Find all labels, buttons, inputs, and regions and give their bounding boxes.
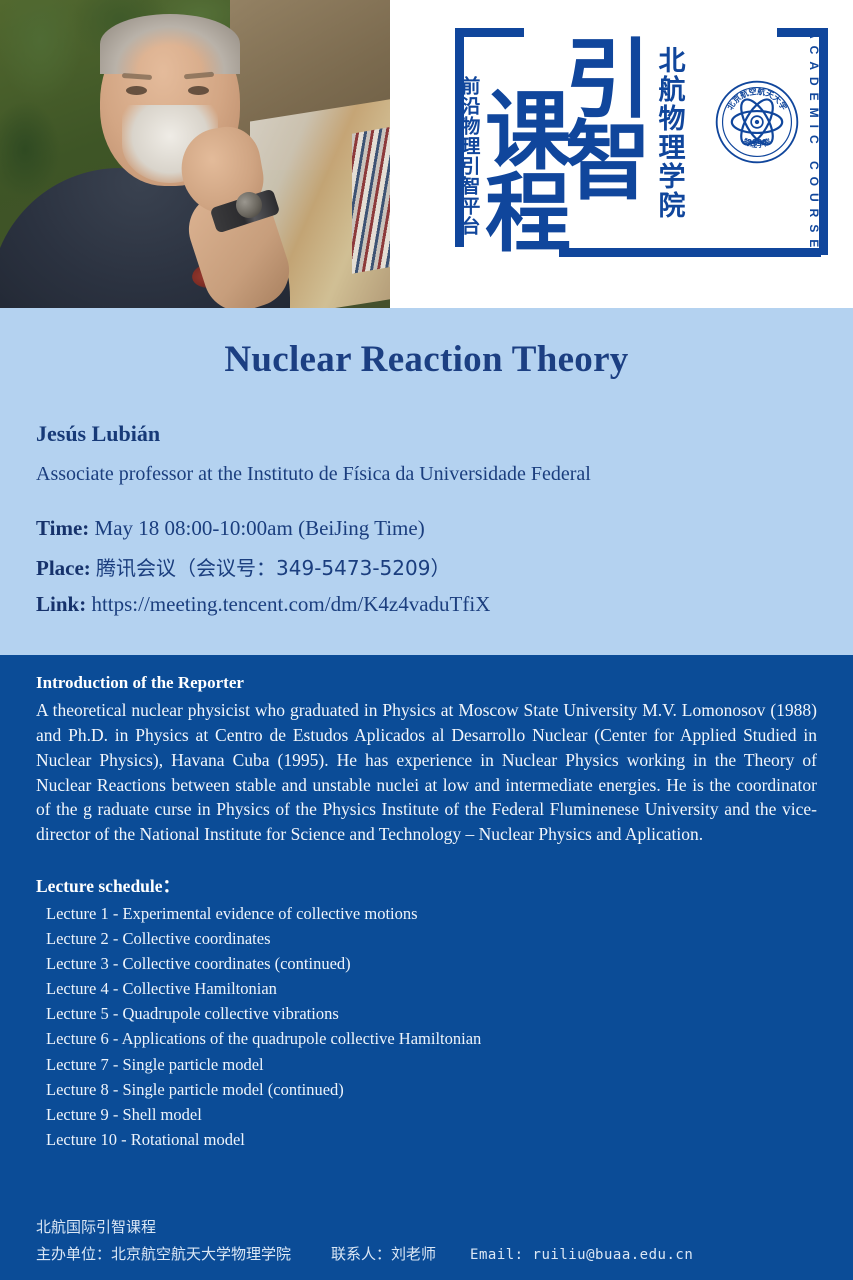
meeting-link[interactable]: https://meeting.tencent.com/dm/K4z4vaduT… (91, 592, 490, 616)
list-item: Lecture 2 - Collective coordinates (46, 926, 853, 951)
meta-value-time: May 18 08:00-10:00am (BeiJing Time) (95, 516, 425, 540)
photo-eye-left (126, 86, 147, 95)
speaker-affiliation: Associate professor at the Instituto de … (36, 463, 853, 486)
list-item: Lecture 3 - Collective coordinates (cont… (46, 951, 853, 976)
speaker-photo (0, 0, 390, 308)
list-item: Lecture 1 - Experimental evidence of col… (46, 901, 853, 926)
program-logo: 前沿物理引智平台 课 程 引 智 北航物理学院 北京航空航天大学 (395, 0, 853, 308)
logo-bracket-bottom (559, 240, 821, 257)
logo-char-cheng: 程 (485, 178, 571, 252)
meta-label-place: Place: (36, 556, 91, 580)
lecture-list: Lecture 1 - Experimental evidence of col… (46, 901, 853, 1152)
svg-text:北京航空航天大学: 北京航空航天大学 (725, 86, 790, 112)
intro-heading: Introduction of the Reporter (0, 655, 853, 693)
logo-char-ke: 课 (485, 96, 571, 170)
list-item: Lecture 6 - Applications of the quadrupo… (46, 1026, 853, 1051)
svg-text:2008: 2008 (747, 137, 767, 146)
buaa-seal-icon: 北京航空航天大学 物理学院 2008 (715, 80, 799, 164)
meta-row-place: Place: 腾讯会议（会议号：349-5473-5209） (36, 552, 853, 581)
footer: 北航国际引智课程 主办单位：北京航空航天大学物理学院 联系人：刘老师 Email… (0, 1216, 853, 1264)
header-band: 前沿物理引智平台 课 程 引 智 北航物理学院 北京航空航天大学 (0, 0, 853, 308)
logo-school-vertical: 北航物理学院 (655, 46, 683, 220)
meta-row-link: Link: https://meeting.tencent.com/dm/K4z… (36, 592, 853, 617)
meta-row-time: Time: May 18 08:00-10:00am (BeiJing Time… (36, 516, 853, 541)
meta-label-link: Link: (36, 592, 86, 616)
meta-value-place: 腾讯会议（会议号：349-5473-5209） (96, 556, 450, 580)
list-item: Lecture 10 - Rotational model (46, 1127, 853, 1152)
list-item: Lecture 9 - Shell model (46, 1102, 853, 1127)
footer-organizer: 主办单位：北京航空航天大学物理学院 (36, 1243, 291, 1264)
photo-hair (100, 14, 240, 74)
photo-chair-stripe (352, 126, 390, 273)
footer-program: 北航国际引智课程 (36, 1216, 853, 1237)
schedule-heading: Lecture schedule： (0, 847, 853, 901)
page-title: Nuclear Reaction Theory (0, 308, 853, 381)
footer-email[interactable]: Email: ruiliu@buaa.edu.cn (470, 1247, 693, 1263)
summary-band: Nuclear Reaction Theory Jesús Lubián Ass… (0, 308, 853, 655)
speaker-name: Jesús Lubián (36, 421, 853, 447)
details-band: Introduction of the Reporter A theoretic… (0, 655, 853, 1280)
list-item: Lecture 8 - Single particle model (conti… (46, 1077, 853, 1102)
footer-details: 主办单位：北京航空航天大学物理学院 联系人：刘老师 Email: ruiliu@… (36, 1243, 853, 1264)
logo-char-zhi: 智 (565, 126, 651, 200)
poster-root: 前沿物理引智平台 课 程 引 智 北航物理学院 北京航空航天大学 (0, 0, 853, 1280)
list-item: Lecture 7 - Single particle model (46, 1052, 853, 1077)
logo-tagline-vertical: 前沿物理引智平台 (459, 76, 478, 236)
list-item: Lecture 5 - Quadrupole collective vibrat… (46, 1001, 853, 1026)
photo-eye-right (188, 86, 209, 95)
event-meta-list: Time: May 18 08:00-10:00am (BeiJing Time… (36, 516, 853, 617)
logo-char-yin: 引 (565, 44, 651, 118)
list-item: Lecture 4 - Collective Hamiltonian (46, 976, 853, 1001)
meta-label-time: Time: (36, 516, 89, 540)
academic-course-label: ACADEMIC COURSE (807, 30, 821, 254)
logo-artwork: 前沿物理引智平台 课 程 引 智 北航物理学院 北京航空航天大学 (447, 18, 827, 290)
intro-paragraph: A theoretical nuclear physicist who grad… (36, 698, 817, 847)
footer-contact: 联系人：刘老师 (331, 1243, 436, 1264)
